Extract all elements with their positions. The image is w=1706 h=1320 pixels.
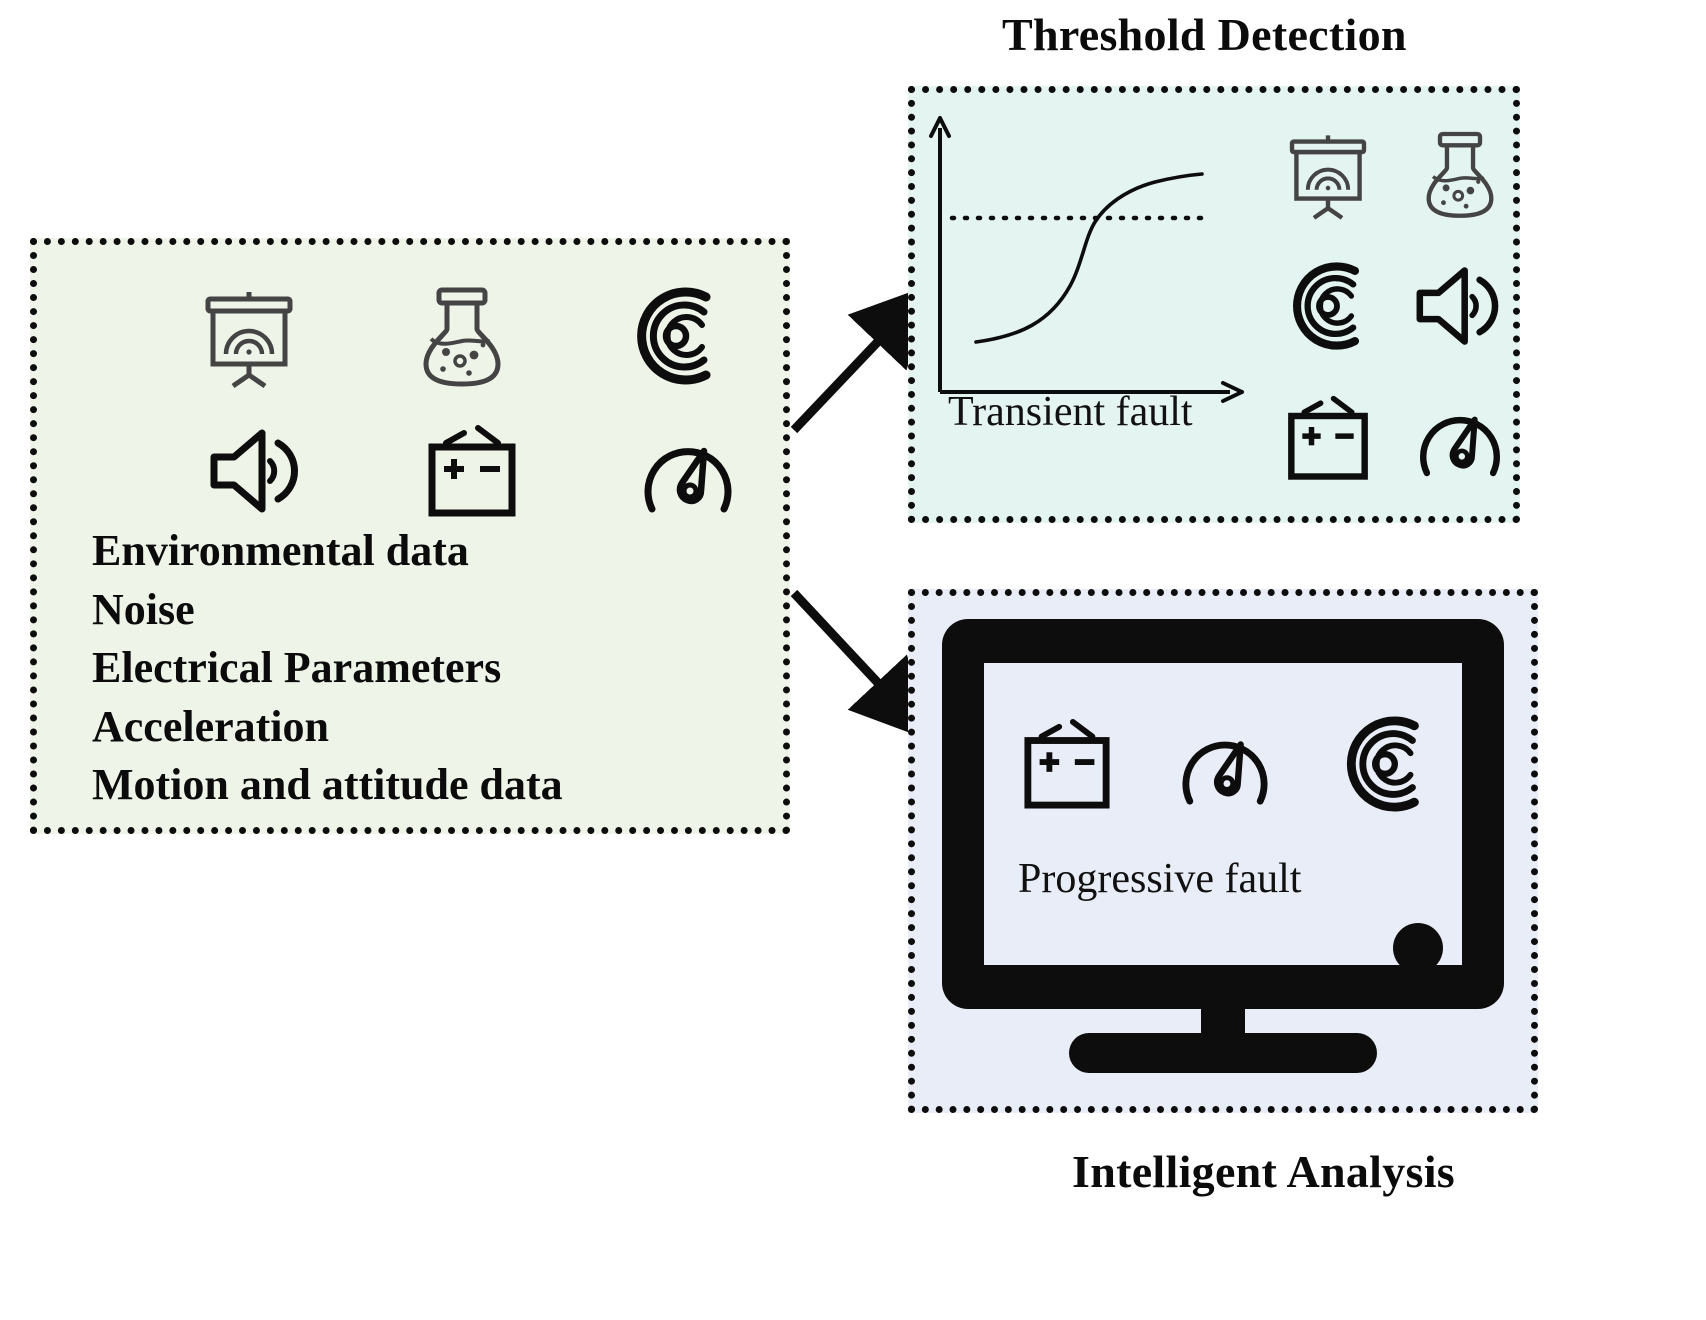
progressive-fault-label: Progressive fault xyxy=(1018,855,1301,903)
sensor-label-electrical: Electrical Parameters xyxy=(92,639,563,698)
analysis-icon-row xyxy=(1020,715,1434,813)
threshold-icon-grid xyxy=(1262,108,1526,504)
source-icon-row-top xyxy=(200,285,726,387)
gauge-icon xyxy=(1176,719,1274,809)
transient-fault-label: Transient fault xyxy=(948,388,1193,436)
sensor-type-list: Environmental data Noise Electrical Para… xyxy=(92,522,563,815)
speaker-icon xyxy=(208,425,306,517)
sensor-label-acceleration: Acceleration xyxy=(92,698,563,757)
threshold-detection-title: Threshold Detection xyxy=(1002,8,1407,61)
weather-screen-icon xyxy=(200,285,298,387)
battery-icon xyxy=(1020,719,1114,809)
weather-screen-icon xyxy=(1285,130,1371,218)
radar-signal-icon xyxy=(626,285,726,387)
battery-icon xyxy=(424,425,520,517)
sensor-label-motion: Motion and attitude data xyxy=(92,756,563,815)
source-icon-row-bottom xyxy=(208,425,738,517)
intelligent-analysis-title: Intelligent Analysis xyxy=(1072,1145,1455,1198)
radar-signal-icon xyxy=(1336,715,1434,813)
desktop-monitor-icon xyxy=(938,615,1508,1073)
flask-icon xyxy=(416,285,508,387)
cursor-dot-icon xyxy=(1390,920,1446,976)
speaker-icon xyxy=(1414,263,1506,349)
radar-signal-icon xyxy=(1283,261,1373,351)
battery-icon xyxy=(1284,395,1372,481)
threshold-chart xyxy=(920,110,1260,400)
sensor-label-noise: Noise xyxy=(92,581,563,640)
gauge-icon xyxy=(638,425,738,517)
gauge-icon xyxy=(1414,395,1506,481)
sensor-label-environmental: Environmental data xyxy=(92,522,563,581)
flask-icon xyxy=(1420,129,1500,219)
